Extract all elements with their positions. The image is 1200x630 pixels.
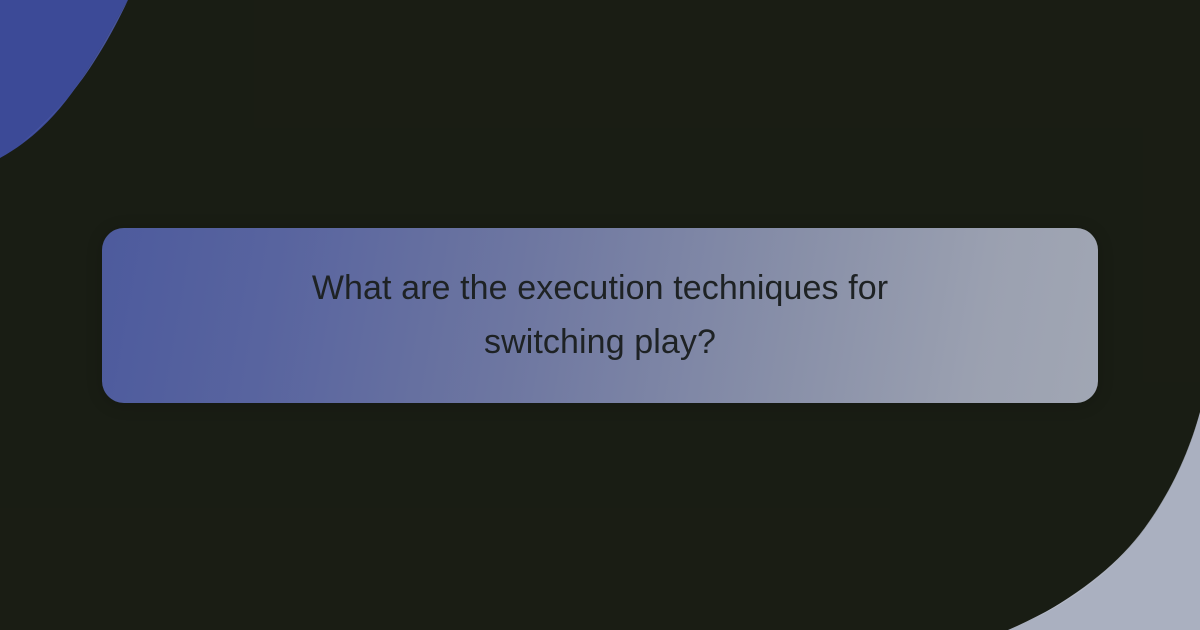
question-card: What are the execution techniques for sw… [102,228,1098,403]
question-text: What are the execution techniques for sw… [240,262,960,369]
question-card-graphic: What are the execution techniques for sw… [0,0,1200,630]
